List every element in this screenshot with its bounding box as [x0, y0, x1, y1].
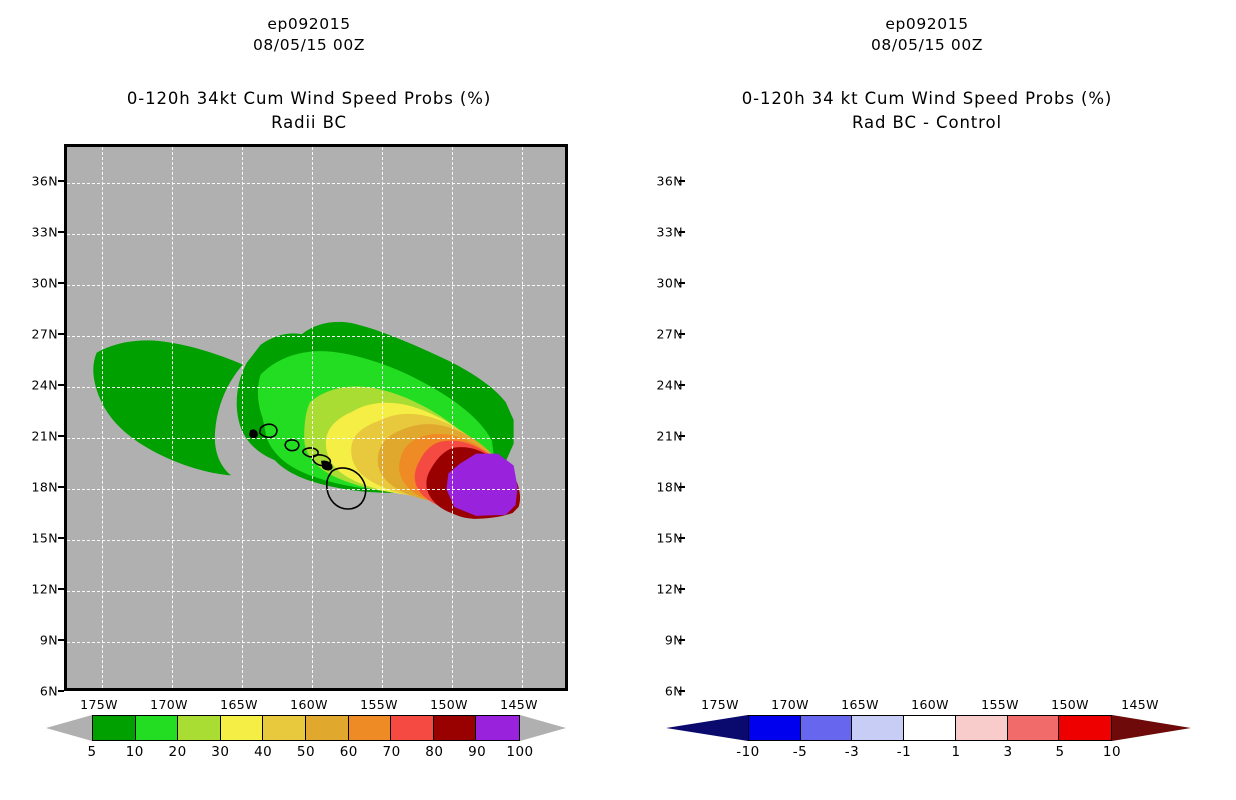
left-ytick-5: 21N: [14, 429, 58, 444]
right-colorbar-label-2: -3: [845, 744, 859, 760]
left-ytick-3: 27N: [14, 327, 58, 342]
left-colorbar-swatch-7[interactable]: [391, 716, 434, 740]
right-ytick-2: 30N: [636, 276, 683, 291]
right-colorbar-label-6: 5: [1055, 744, 1064, 760]
left-colorbar[interactable]: 5102030405060708090100: [46, 715, 566, 741]
left-ytick-2: 30N: [14, 276, 58, 291]
right-title-line1: 0-120h 34 kt Cum Wind Speed Probs (%): [618, 87, 1236, 111]
left-title-line1: 0-120h 34kt Cum Wind Speed Probs (%): [0, 87, 618, 111]
left-colorbar-over-arrow: [520, 715, 566, 741]
left-title-line2: Radii BC: [0, 111, 618, 135]
right-ytick-9: 9N: [636, 633, 683, 648]
right-ytick-1: 33N: [636, 225, 683, 240]
left-xtick-6: 145W: [500, 697, 538, 712]
wind-speed-probability-figure: ep092015 08/05/15 00Z 0-120h 34kt Cum Wi…: [0, 0, 1236, 800]
left-ytick-7: 15N: [14, 531, 58, 546]
right-colorbar-over-arrow: [1112, 715, 1191, 741]
right-colorbar-swatch-6[interactable]: [1059, 716, 1111, 740]
left-datetime: 08/05/15 00Z: [0, 35, 618, 56]
right-colorbar-under-arrow: [666, 715, 748, 741]
panel-rad-bc-control: ep092015 08/05/15 00Z 0-120h 34 kt Cum W…: [618, 0, 1236, 800]
left-colorbar-label-5: 50: [297, 744, 315, 760]
left-colorbar-label-3: 30: [211, 744, 229, 760]
left-colorbar-label-4: 40: [254, 744, 272, 760]
left-title-block: ep092015 08/05/15 00Z: [0, 14, 618, 56]
left-ytick-9: 9N: [14, 633, 58, 648]
right-title-block: ep092015 08/05/15 00Z: [618, 14, 1236, 56]
right-title-line2: Rad BC - Control: [618, 111, 1236, 135]
right-colorbar-label-0: -10: [736, 744, 760, 760]
left-colorbar-label-1: 10: [126, 744, 144, 760]
left-colorbar-under-arrow: [46, 715, 92, 741]
right-ytick-3: 27N: [636, 327, 683, 342]
left-colorbar-label-2: 20: [169, 744, 187, 760]
right-colorbar-swatch-5[interactable]: [1008, 716, 1060, 740]
left-map-canvas[interactable]: [64, 144, 568, 691]
right-colorbar-label-7: 10: [1103, 744, 1121, 760]
left-ytick-6: 18N: [14, 480, 58, 495]
left-ytick-10: 6N: [14, 684, 58, 699]
right-ytick-4: 24N: [636, 378, 683, 393]
right-xtick-2: 165W: [841, 697, 879, 712]
left-ytick-4: 24N: [14, 378, 58, 393]
left-ytick-1: 33N: [14, 225, 58, 240]
right-xtick-5: 150W: [1051, 697, 1089, 712]
left-colorbar-label-9: 90: [468, 744, 486, 760]
right-ytick-8: 12N: [636, 582, 683, 597]
right-colorbar-label-5: 3: [1003, 744, 1012, 760]
right-xtick-1: 170W: [771, 697, 809, 712]
right-ytick-0: 36N: [636, 174, 683, 189]
left-colorbar-label-0: 5: [87, 744, 96, 760]
left-storm-id: ep092015: [0, 14, 618, 35]
right-colorbar-swatches[interactable]: [748, 715, 1112, 741]
panel-radii-bc: ep092015 08/05/15 00Z 0-120h 34kt Cum Wi…: [0, 0, 618, 800]
right-ytick-5: 21N: [636, 429, 683, 444]
left-ytick-0: 36N: [14, 174, 58, 189]
left-ytick-8: 12N: [14, 582, 58, 597]
right-colorbar-swatch-2[interactable]: [852, 716, 904, 740]
right-colorbar-swatch-0[interactable]: [749, 716, 801, 740]
left-xtick-2: 165W: [220, 697, 258, 712]
right-xtick-3: 160W: [911, 697, 949, 712]
left-colorbar-swatch-9[interactable]: [476, 716, 519, 740]
left-xtick-3: 160W: [290, 697, 328, 712]
left-colorbar-swatch-8[interactable]: [434, 716, 477, 740]
left-colorbar-swatch-0[interactable]: [93, 716, 136, 740]
right-colorbar-label-4: 1: [951, 744, 960, 760]
right-chart-title: 0-120h 34 kt Cum Wind Speed Probs (%) Ra…: [618, 87, 1236, 135]
right-colorbar-swatch-3[interactable]: [904, 716, 956, 740]
right-ytick-6: 18N: [636, 480, 683, 495]
left-colorbar-swatch-4[interactable]: [263, 716, 306, 740]
left-xtick-5: 150W: [430, 697, 468, 712]
left-colorbar-swatch-3[interactable]: [221, 716, 264, 740]
left-colorbar-label-6: 60: [340, 744, 358, 760]
right-ytick-10: 6N: [636, 684, 683, 699]
right-colorbar-label-1: -5: [793, 744, 807, 760]
left-xtick-0: 175W: [80, 697, 118, 712]
right-colorbar-swatch-1[interactable]: [801, 716, 853, 740]
left-colorbar-swatches[interactable]: [92, 715, 520, 741]
left-colorbar-swatch-2[interactable]: [178, 716, 221, 740]
right-colorbar-swatch-4[interactable]: [956, 716, 1008, 740]
left-colorbar-label-7: 70: [383, 744, 401, 760]
left-probability-contours: [67, 147, 565, 688]
left-chart-title: 0-120h 34kt Cum Wind Speed Probs (%) Rad…: [0, 87, 618, 135]
left-colorbar-swatch-1[interactable]: [136, 716, 179, 740]
right-xtick-0: 175W: [701, 697, 739, 712]
left-colorbar-label-10: 100: [506, 744, 533, 760]
left-colorbar-label-8: 80: [425, 744, 443, 760]
right-datetime: 08/05/15 00Z: [618, 35, 1236, 56]
right-colorbar-label-3: -1: [897, 744, 911, 760]
right-ytick-7: 15N: [636, 531, 683, 546]
right-storm-id: ep092015: [618, 14, 1236, 35]
left-colorbar-swatch-6[interactable]: [349, 716, 392, 740]
right-xtick-6: 145W: [1121, 697, 1159, 712]
right-colorbar[interactable]: -10-5-3-113510: [666, 715, 1191, 741]
right-xtick-4: 155W: [981, 697, 1019, 712]
left-xtick-4: 155W: [360, 697, 398, 712]
left-colorbar-swatch-5[interactable]: [306, 716, 349, 740]
left-xtick-1: 170W: [150, 697, 188, 712]
